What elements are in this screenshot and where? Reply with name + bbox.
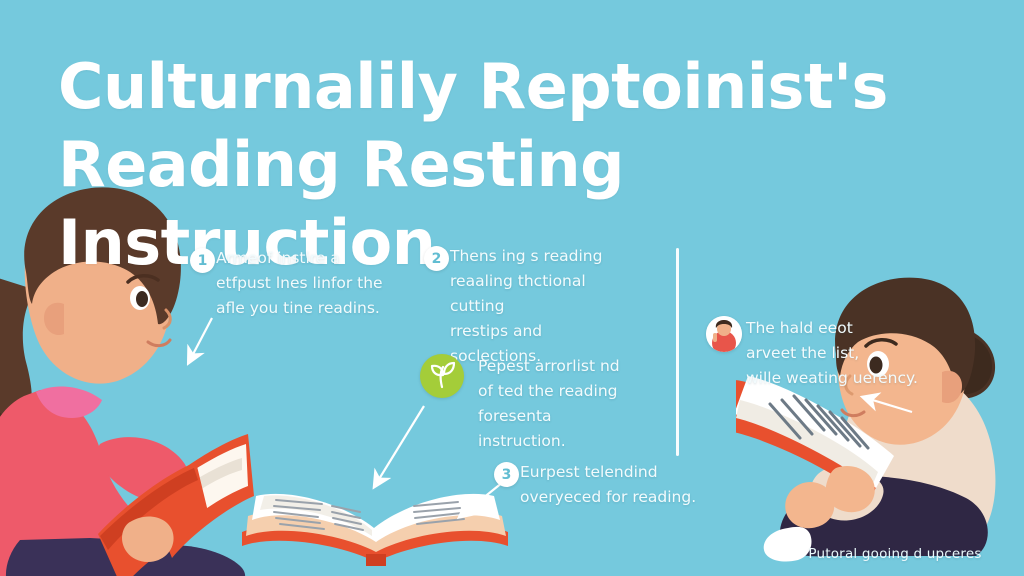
title-line-1: Culturnalily Reptoinist's (58, 50, 888, 123)
leaf-badge (420, 354, 464, 398)
callout-item-1-text: Armeof instire a etfpust lnes linfor the… (186, 246, 386, 321)
leaf-icon (420, 354, 464, 398)
number-badge-2: 2 (424, 246, 449, 271)
number-badge-3: 3 (494, 462, 519, 487)
callout-item-3-text: Eurpest telendind overyeced for reading. (490, 460, 705, 510)
poster-canvas: Culturnalily Reptoinist's Reading Restin… (0, 0, 1024, 576)
open-book-center-illustration (236, 462, 516, 576)
callout-item-2-text: Thens ing s reading reaaling thctional c… (420, 244, 635, 369)
callout-item-3: 3 Eurpest telendind overyeced for readin… (490, 460, 705, 510)
callout-item-right: The hald eeot arveet the list, wille wea… (706, 316, 936, 391)
number-badge-1: 1 (190, 248, 215, 273)
person-avatar-icon (706, 316, 742, 352)
callout-item-1: 1 Armeof instire a etfpust lnes linfor t… (186, 246, 386, 321)
footer-caption: Putoral gooing d upceres (770, 546, 1020, 562)
callout-item-leaf: Pepest arrorlist nd of ted the reading f… (420, 354, 635, 454)
callout-item-2: 2 Thens ing s reading reaaling thctional… (420, 244, 635, 369)
